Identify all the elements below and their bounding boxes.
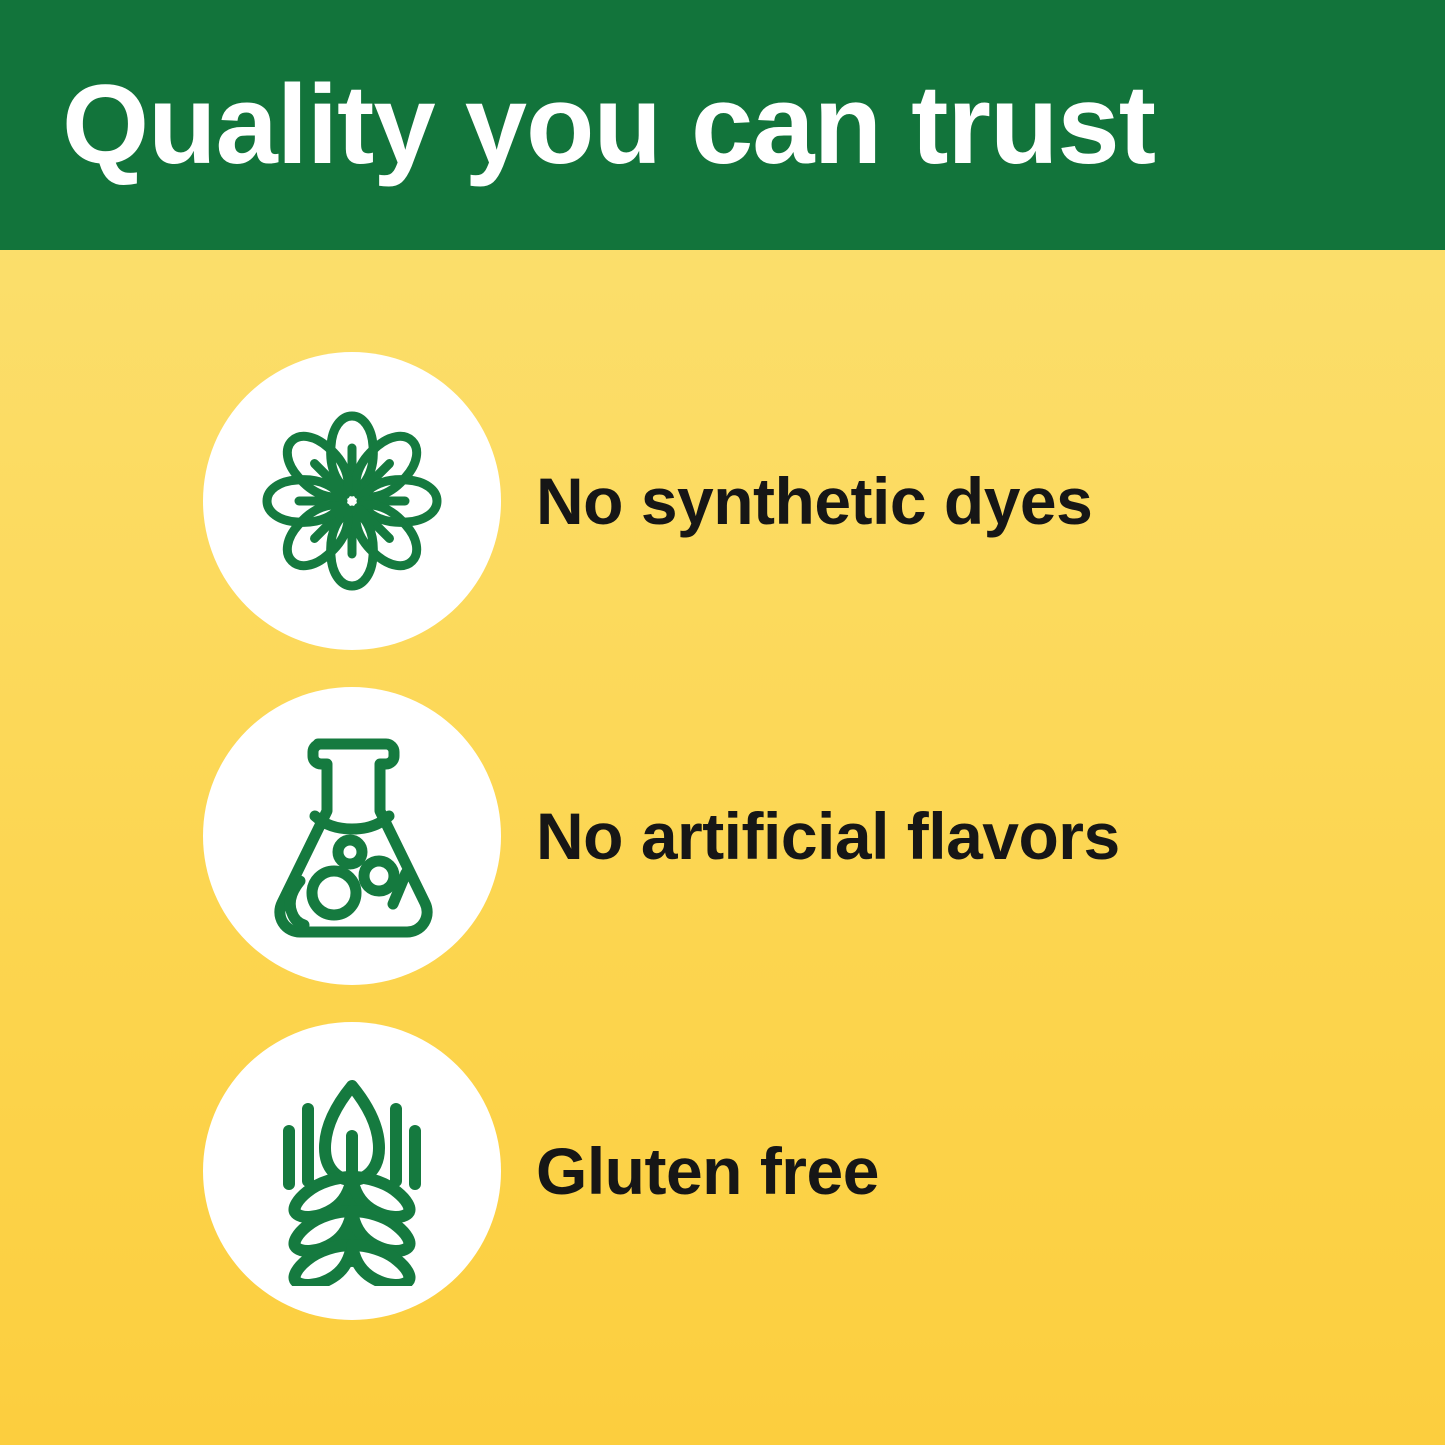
feature-label: No artificial flavors <box>536 687 1120 985</box>
quality-infographic: Quality you can trust <box>0 0 1445 1445</box>
icon-disc <box>203 1022 501 1320</box>
header-band: Quality you can trust <box>0 0 1445 250</box>
erlenmeyer-flask-icon <box>237 721 467 951</box>
feature-row: Gluten free <box>0 1022 1445 1322</box>
wheat-stalk-icon <box>237 1056 467 1286</box>
icon-disc <box>203 352 501 650</box>
feature-row: No synthetic dyes <box>0 352 1445 652</box>
icon-disc <box>203 687 501 985</box>
flower-petals-icon <box>227 376 477 626</box>
feature-row: No artificial flavors <box>0 687 1445 987</box>
feature-label: No synthetic dyes <box>536 352 1092 650</box>
page-title: Quality you can trust <box>62 60 1402 190</box>
feature-label: Gluten free <box>536 1022 879 1320</box>
